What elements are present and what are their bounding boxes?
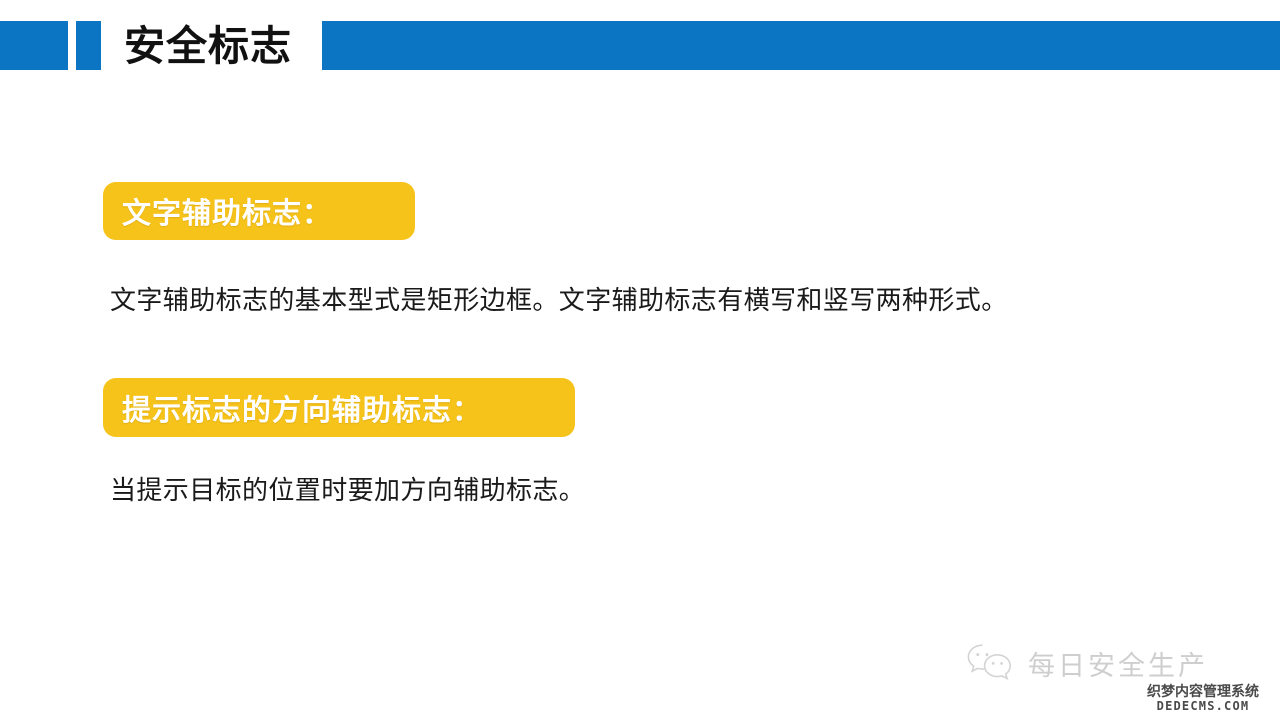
section-body-direction-auxiliary-sign: 当提示目标的位置时要加方向辅助标志。 [110,470,585,507]
wechat-icon [966,642,1014,684]
section-badge-direction-auxiliary-sign: 提示标志的方向辅助标志： [103,378,575,437]
page-title: 安全标志 [124,16,292,76]
slide-header: 安全标志 [0,0,1280,96]
dedecms-watermark: 织梦内容管理系统 DEDECMS.COM [1134,684,1272,713]
section-badge-text-auxiliary-sign: 文字辅助标志： [103,182,415,240]
header-blue-block-tick [76,21,101,70]
wechat-watermark: 每日安全生产 [966,640,1226,686]
badge-label: 文字辅助标志： [122,190,332,232]
header-blue-block-left [0,21,68,70]
badge-label: 提示标志的方向辅助标志： [122,387,482,429]
dedecms-watermark-chinese: 织梦内容管理系统 [1134,684,1272,699]
slide-root: 安全标志 文字辅助标志： 文字辅助标志的基本型式是矩形边框。文字辅助标志有横写和… [0,0,1280,720]
section-body-text-auxiliary-sign: 文字辅助标志的基本型式是矩形边框。文字辅助标志有横写和竖写两种形式。 [110,280,1008,317]
header-blue-block-bar [322,21,1280,70]
wechat-watermark-label: 每日安全生产 [1028,644,1208,683]
dedecms-watermark-english: DEDECMS.COM [1134,699,1272,713]
slide-content: 文字辅助标志： 文字辅助标志的基本型式是矩形边框。文字辅助标志有横写和竖写两种形… [0,96,1280,616]
